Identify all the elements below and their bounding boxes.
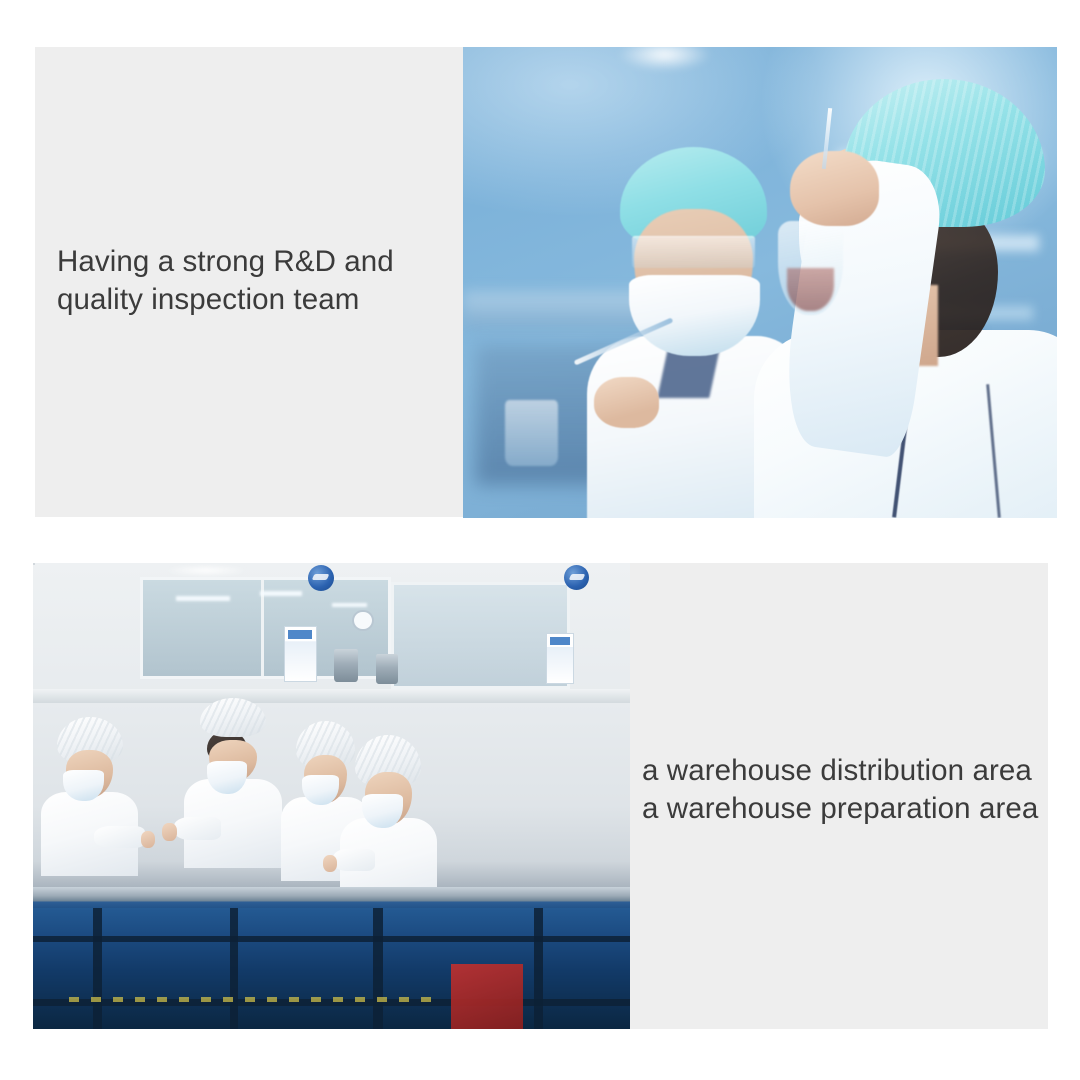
warehouse-caption: a warehouse distribution area a warehous… <box>642 752 1042 828</box>
window-light <box>260 591 302 596</box>
back-counter <box>33 689 630 703</box>
rd-quality-caption: Having a strong R&D and quality inspecti… <box>57 243 457 319</box>
table-leg <box>93 908 103 1029</box>
packing-worker <box>57 717 123 857</box>
window-light <box>332 603 368 608</box>
warehouse-packing-photo <box>33 563 630 1029</box>
arm <box>94 826 145 848</box>
steel-canister <box>376 654 397 684</box>
hand <box>162 823 176 841</box>
face-mask <box>362 794 403 828</box>
lower-hand <box>594 377 659 429</box>
floor-tape <box>69 997 439 1002</box>
window-light <box>176 596 230 601</box>
arm <box>333 849 375 871</box>
wall-clock-icon <box>352 610 373 631</box>
table-rail <box>33 936 630 943</box>
red-crate <box>451 964 523 1029</box>
lab-inspection-photo <box>463 47 1057 518</box>
hand <box>323 855 337 872</box>
table-leg <box>230 908 238 1029</box>
work-table-top <box>33 887 630 910</box>
ceiling-light <box>164 565 248 575</box>
hand <box>141 831 155 848</box>
packing-worker <box>200 698 266 847</box>
slide-canvas: Having a strong R&D and quality inspecti… <box>0 0 1080 1080</box>
packing-worker <box>355 735 421 889</box>
arm <box>174 817 221 839</box>
table-leg <box>373 908 383 1029</box>
beaker <box>505 400 558 466</box>
notice-board <box>284 626 317 682</box>
safety-glasses <box>632 236 756 268</box>
gloved-hand <box>790 151 879 226</box>
interior-door <box>391 582 570 689</box>
wall-sign-icon <box>308 565 334 591</box>
steel-canister <box>334 649 358 682</box>
table-leg <box>534 908 542 1029</box>
notice-board <box>546 633 573 684</box>
hairnet <box>200 698 266 737</box>
ceiling-light <box>617 47 712 71</box>
